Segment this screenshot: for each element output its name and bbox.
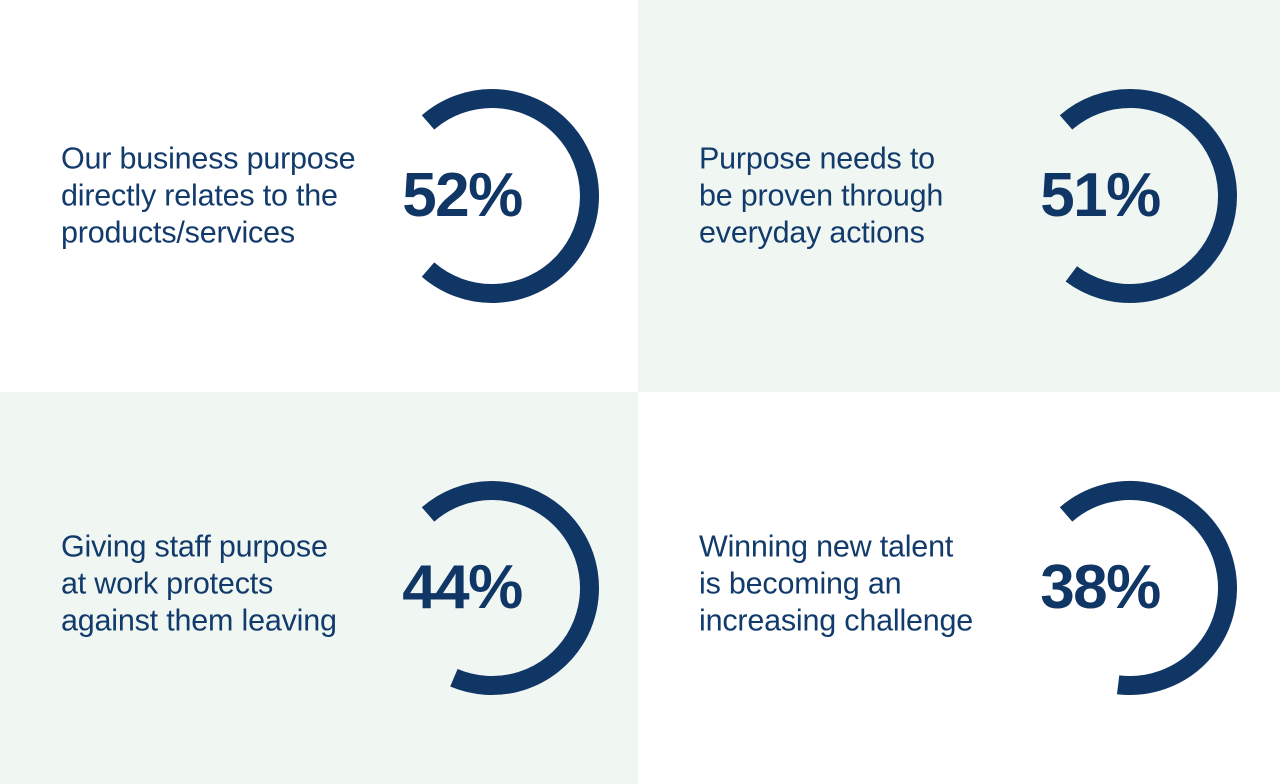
- radial-gauge: 38%: [1020, 478, 1240, 698]
- stat-statement: Purpose needs to be proven through every…: [699, 141, 1029, 252]
- stat-card: Our business purpose directly relates to…: [0, 0, 638, 392]
- stat-card-grid: Our business purpose directly relates to…: [0, 0, 1280, 784]
- stat-percentage: 44%: [382, 557, 542, 619]
- stat-card: Purpose needs to be proven through every…: [638, 0, 1280, 392]
- radial-gauge: 51%: [1020, 86, 1240, 306]
- stat-percentage: 51%: [1020, 165, 1180, 227]
- stat-statement: Winning new talent is becoming an increa…: [699, 529, 1029, 640]
- stat-statement: Our business purpose directly relates to…: [61, 141, 391, 252]
- stat-statement: Giving staff purpose at work protects ag…: [61, 529, 391, 640]
- stat-percentage: 38%: [1020, 557, 1180, 619]
- stat-card: Winning new talent is becoming an increa…: [638, 392, 1280, 784]
- stat-percentage: 52%: [382, 165, 542, 227]
- radial-gauge: 44%: [382, 478, 602, 698]
- radial-gauge: 52%: [382, 86, 602, 306]
- stat-card: Giving staff purpose at work protects ag…: [0, 392, 638, 784]
